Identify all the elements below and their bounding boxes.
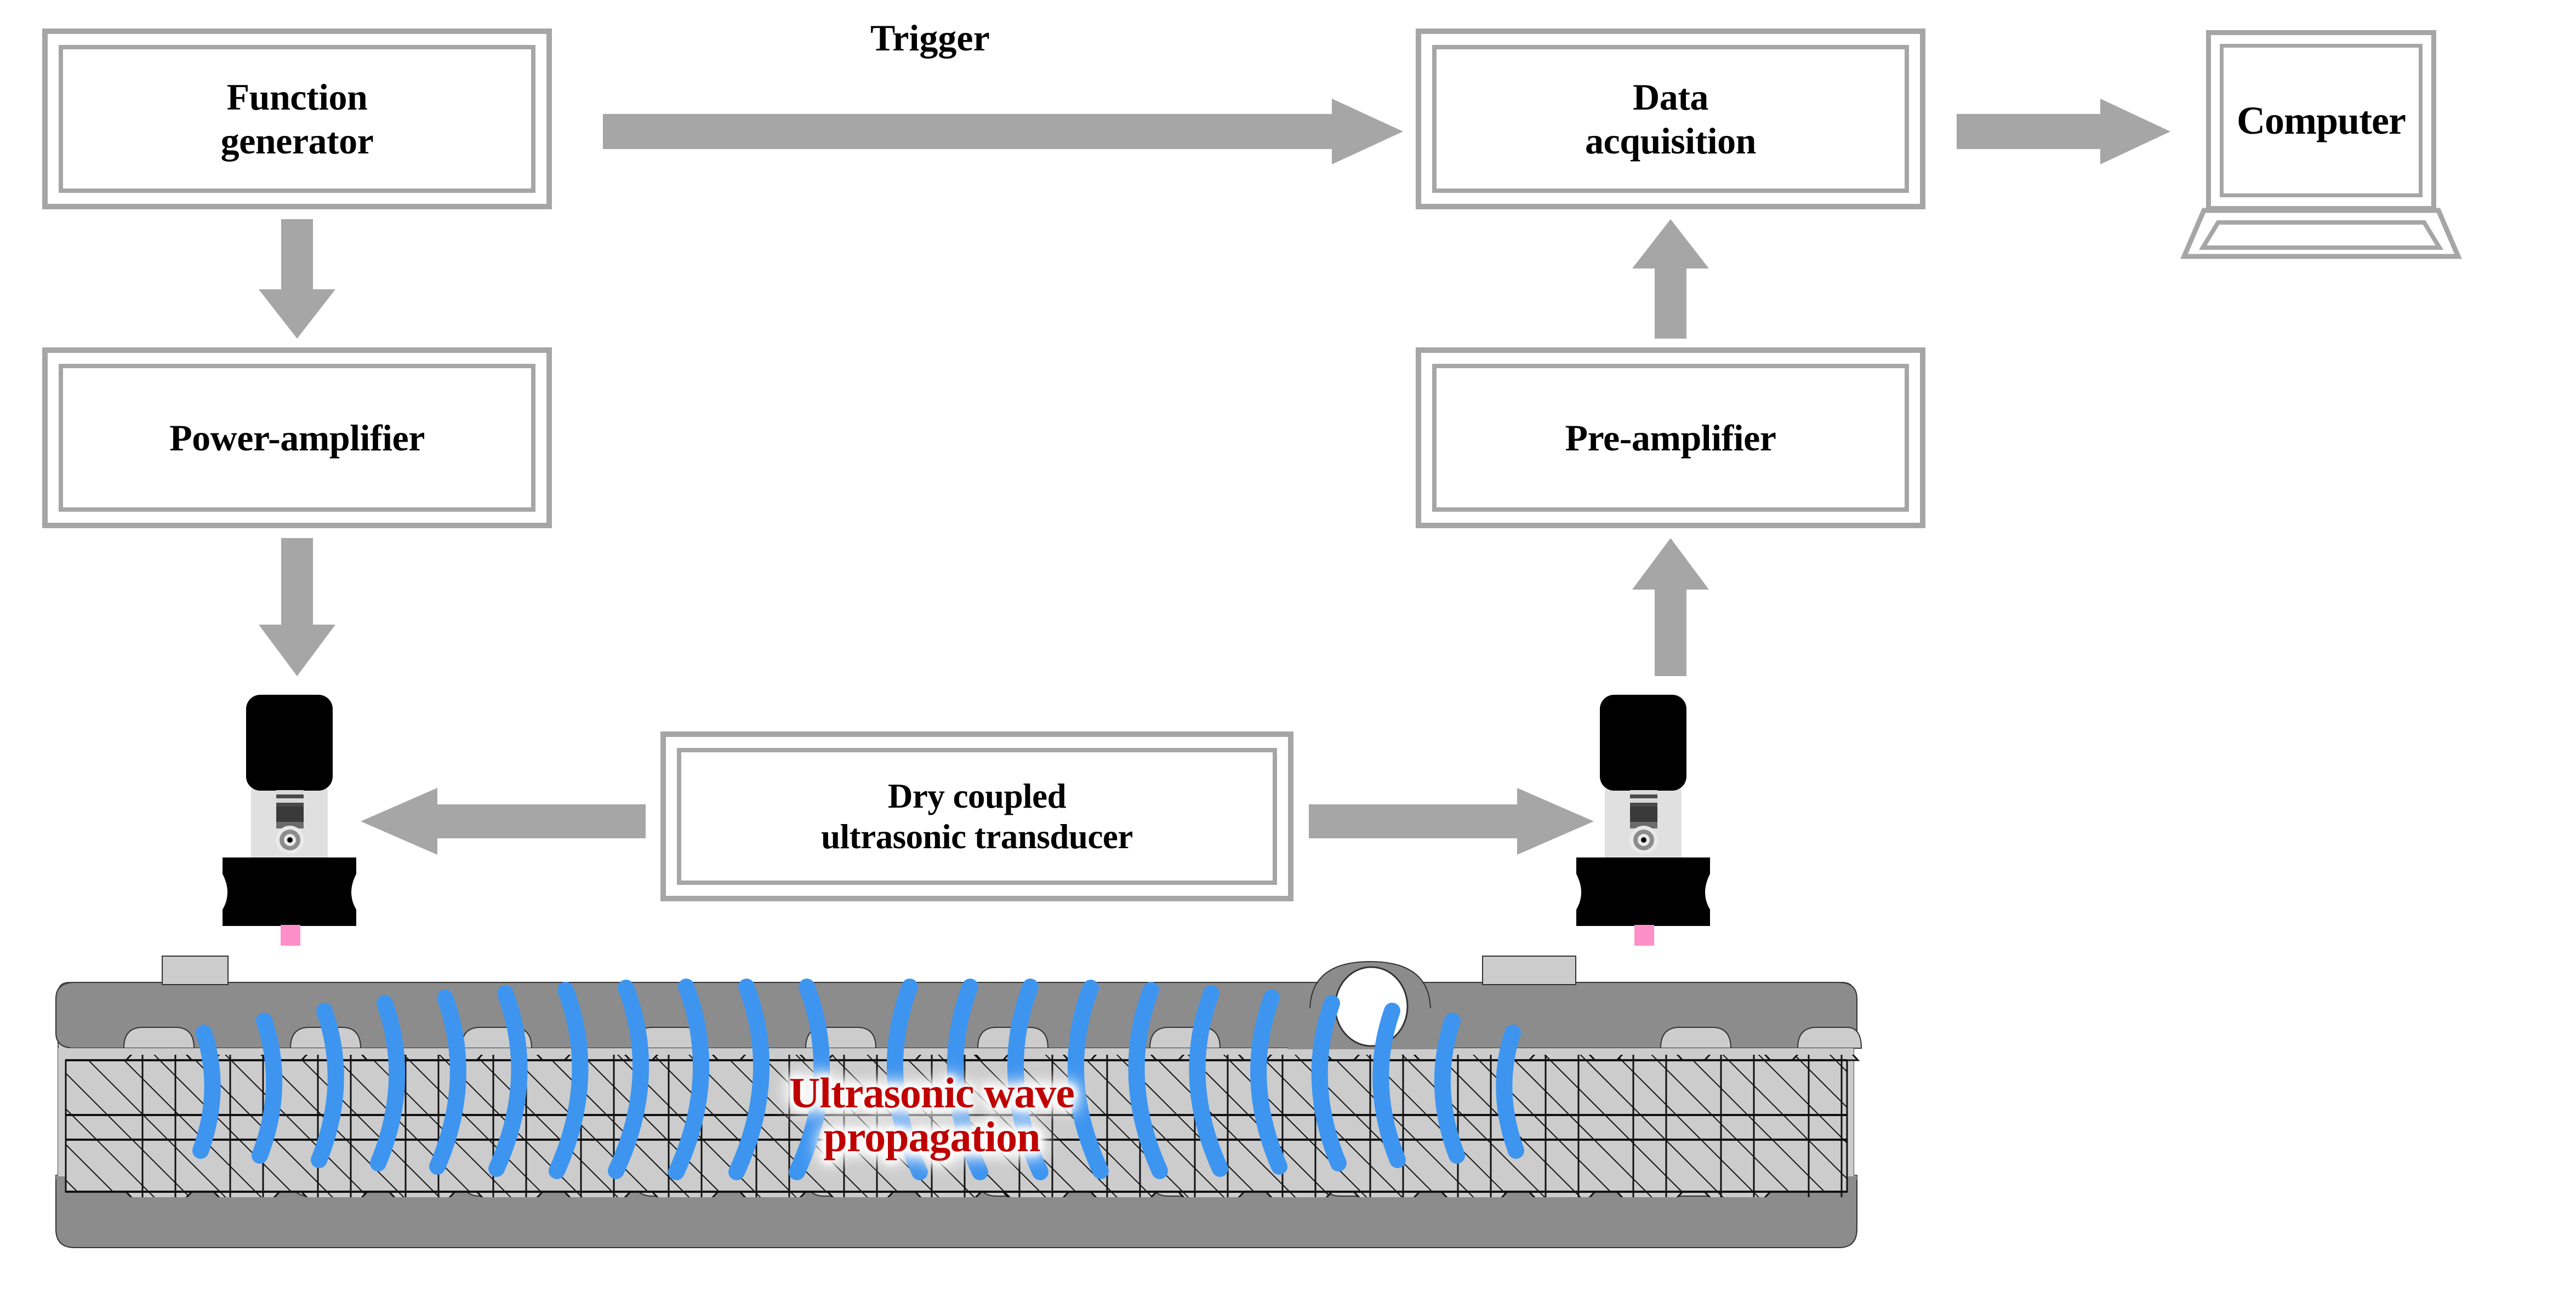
computer-laptop[interactable]: Computer (2184, 30, 2458, 258)
couplant-pad (1634, 925, 1654, 946)
callout-line-1: Dry coupled (888, 777, 1066, 815)
arrow-fg-to-power-amplifier (259, 219, 335, 339)
box-power-amplifier-label: Power-amplifier (164, 416, 430, 460)
box-transducer-callout[interactable]: Dry coupled ultrasonic transducer (660, 731, 1293, 901)
box-power-amplifier-inner: Power-amplifier (59, 364, 535, 512)
box-data-acquisition[interactable]: Data acquisition (1416, 28, 1925, 209)
transducer-right[interactable] (1546, 685, 1765, 981)
transducer-foot (1576, 857, 1710, 926)
box-pre-amplifier-label: Pre-amplifier (1560, 416, 1782, 460)
arrow-daq-to-computer (1957, 99, 2170, 164)
transducer-connector (1629, 790, 1658, 854)
box-transducer-callout-inner: Dry coupled ultrasonic transducer (677, 748, 1277, 885)
specimen-cross-section (55, 956, 1863, 1263)
fg-line-2: generator (221, 120, 374, 162)
laptop-screen: Computer (2206, 30, 2436, 211)
box-function-generator[interactable]: Function generator (42, 28, 552, 209)
box-function-generator-inner: Function generator (59, 45, 535, 193)
transducer-cap (1600, 695, 1686, 791)
box-transducer-callout-label: Dry coupled ultrasonic transducer (816, 776, 1138, 857)
fg-line-1: Function (227, 76, 368, 118)
couplant-pad (281, 925, 300, 946)
transducer-left[interactable] (192, 685, 411, 981)
box-power-amplifier[interactable]: Power-amplifier (42, 347, 552, 528)
transducer-foot (223, 857, 356, 926)
lifting-lug (1288, 962, 1452, 1049)
trigger-label: Trigger (870, 16, 990, 60)
diagram-canvas: Function generator Power-amplifier Data … (0, 0, 2576, 1315)
box-pre-amplifier-inner: Pre-amplifier (1432, 364, 1909, 512)
box-function-generator-label: Function generator (215, 75, 379, 163)
computer-label: Computer (2237, 98, 2406, 144)
arrow-trigger (603, 99, 1403, 164)
daq-line-1: Data (1633, 76, 1708, 118)
transducer-connector (276, 790, 304, 854)
transducer-cap (246, 695, 333, 791)
box-data-acquisition-inner: Data acquisition (1432, 45, 1909, 193)
callout-line-2: ultrasonic transducer (821, 817, 1133, 856)
laptop-screen-inner: Computer (2220, 44, 2423, 197)
box-data-acquisition-label: Data acquisition (1580, 75, 1762, 163)
arrow-power-amplifier-to-transducer (259, 538, 335, 676)
daq-line-2: acquisition (1585, 120, 1756, 162)
box-pre-amplifier[interactable]: Pre-amplifier (1416, 347, 1925, 528)
laptop-base-icon (2184, 209, 2458, 256)
arrow-transducer-to-pre-amplifier (1632, 538, 1709, 676)
arrow-pre-amplifier-to-daq (1632, 219, 1709, 339)
